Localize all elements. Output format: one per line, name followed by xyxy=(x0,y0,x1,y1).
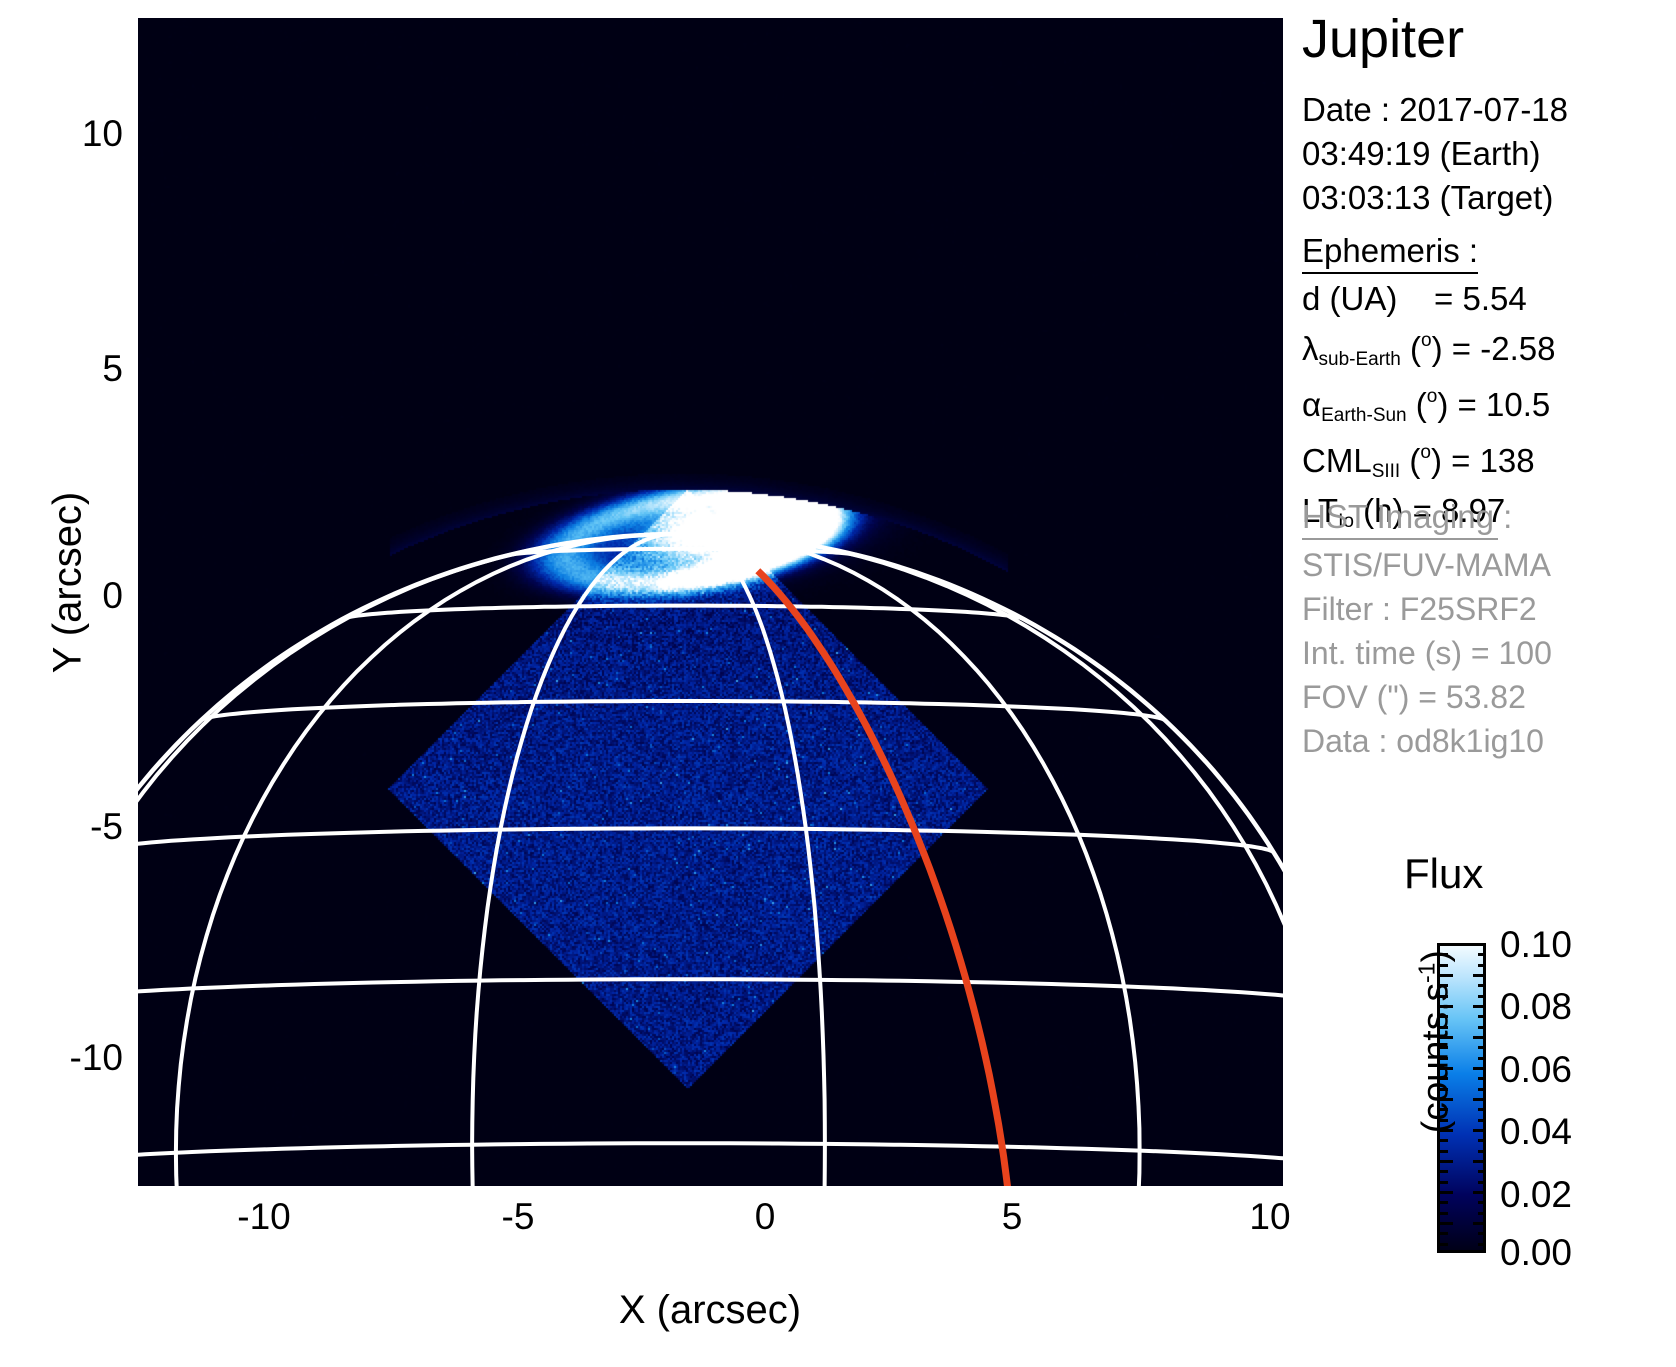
cb-units-exponent: -1 xyxy=(1413,963,1439,983)
colorbar-minor-tick xyxy=(1478,995,1486,998)
colorbar-minor-tick xyxy=(1440,1088,1448,1091)
cb-tick-label-008: 0.08 xyxy=(1500,986,1572,1028)
colorbar-minor-tick xyxy=(1440,1046,1448,1049)
x-tick-label-minus10: -10 xyxy=(214,1196,314,1238)
colorbar-minor-tick xyxy=(1478,1243,1486,1246)
page-title: Jupiter xyxy=(1302,8,1464,70)
hst-rule xyxy=(1302,538,1498,540)
eph-value-cml: = 138 xyxy=(1451,442,1535,479)
colorbar-minor-tick xyxy=(1440,1181,1448,1184)
grid-line xyxy=(138,540,660,1186)
grid-line xyxy=(138,828,1274,852)
colorbar-units-label: (counts.s-1) xyxy=(1413,882,1456,1202)
eph-sub-cml: SIII xyxy=(1372,461,1401,482)
colorbar-minor-tick xyxy=(1473,1222,1486,1225)
colorbar-minor-tick xyxy=(1473,1129,1486,1132)
colorbar-minor-tick xyxy=(1478,1212,1486,1215)
colorbar-minor-tick xyxy=(1440,1243,1448,1246)
eph-unit-alpha: (o) xyxy=(1416,386,1449,423)
cb-tick-label-006: 0.06 xyxy=(1500,1049,1572,1091)
colorbar-minor-tick xyxy=(1440,1036,1453,1039)
colorbar-minor-tick xyxy=(1440,1077,1448,1080)
eph-symbol-cml: CML xyxy=(1302,442,1372,479)
time-earth-line: 03:49:19 (Earth) xyxy=(1302,132,1568,176)
eph-value-alpha: = 10.5 xyxy=(1458,386,1551,423)
cb-tick-label-002: 0.02 xyxy=(1500,1174,1572,1216)
colorbar-minor-tick xyxy=(1478,1232,1486,1235)
grid-line xyxy=(138,979,1283,1007)
colorbar-minor-tick xyxy=(1440,974,1453,977)
eph-unit-cml: (o) xyxy=(1409,442,1442,479)
eph-symbol-d: d xyxy=(1302,280,1320,317)
colorbar-minor-tick xyxy=(1478,1139,1486,1142)
colorbar-minor-tick xyxy=(1478,1150,1486,1153)
hst-integration-time: Int. time (s) = 100 xyxy=(1302,631,1552,675)
y-tick-label-10: 10 xyxy=(75,113,123,155)
colorbar-minor-tick xyxy=(1478,1046,1486,1049)
colorbar-minor-tick xyxy=(1440,1150,1448,1153)
eph-symbol-lambda: λ xyxy=(1302,330,1319,367)
cb-tick-label-000: 0.00 xyxy=(1500,1232,1572,1274)
planet-grid-lines xyxy=(138,534,1283,1186)
colorbar-minor-tick xyxy=(1440,1026,1448,1029)
colorbar-minor-tick xyxy=(1440,964,1448,967)
time-target-line: 03:03:13 (Target) xyxy=(1302,176,1568,220)
y-tick-label-minus5: -5 xyxy=(60,806,123,848)
grid-line xyxy=(138,534,1283,1186)
colorbar-minor-tick xyxy=(1440,984,1448,987)
grid-line xyxy=(176,535,665,1186)
colorbar-minor-tick xyxy=(1440,1005,1453,1008)
colorbar-minor-tick xyxy=(1473,974,1486,977)
colorbar-minor-tick xyxy=(1440,1139,1448,1142)
grid-line xyxy=(472,534,676,1186)
colorbar-minor-tick xyxy=(1440,1222,1453,1225)
x-tick-label-minus5: -5 xyxy=(472,1196,564,1238)
colorbar-minor-tick xyxy=(1440,1108,1448,1111)
colorbar-minor-tick xyxy=(1440,1119,1448,1122)
eph-value-d: = 5.54 xyxy=(1434,280,1527,317)
hst-heading: HST Imaging : xyxy=(1302,498,1512,536)
colorbar-minor-tick xyxy=(1440,1015,1448,1018)
y-tick-label-minus10: -10 xyxy=(45,1037,123,1079)
date-line: Date : 2017-07-18 xyxy=(1302,88,1568,132)
y-axis-title: Y (arcsec) xyxy=(46,423,91,743)
colorbar-minor-tick xyxy=(1478,1108,1486,1111)
hst-filter: Filter : F25SRF2 xyxy=(1302,587,1552,631)
ephemeris-row-phase-angle: αEarth-Sun (o) = 10.5 xyxy=(1302,377,1555,433)
colorbar-minor-tick xyxy=(1478,1119,1486,1122)
cb-tick-label-004: 0.04 xyxy=(1500,1111,1572,1153)
colorbar-minor-tick xyxy=(1440,995,1448,998)
colorbar-minor-tick xyxy=(1478,1026,1486,1029)
ephemeris-row-cml: CMLSIII (o) = 138 xyxy=(1302,433,1555,489)
colorbar-minor-tick xyxy=(1478,1170,1486,1173)
hst-data-id: Data : od8k1ig10 xyxy=(1302,719,1552,763)
colorbar-minor-tick xyxy=(1478,953,1486,956)
colorbar-minor-tick xyxy=(1440,1129,1453,1132)
x-axis-title: X (arcsec) xyxy=(430,1288,990,1333)
colorbar-minor-tick xyxy=(1478,964,1486,967)
colorbar-minor-tick xyxy=(1440,953,1448,956)
grid-line xyxy=(688,534,825,1186)
colorbar-minor-tick xyxy=(1478,1077,1486,1080)
x-tick-label-5: 5 xyxy=(976,1196,1048,1238)
date-block: Date : 2017-07-18 03:49:19 (Earth) 03:03… xyxy=(1302,88,1568,220)
ephemeris-rule xyxy=(1302,272,1478,274)
eph-value-lambda: = -2.58 xyxy=(1452,330,1556,367)
colorbar-minor-tick xyxy=(1473,1005,1486,1008)
io-footprint-trace xyxy=(745,571,1015,1186)
colorbar-minor-tick xyxy=(1440,1067,1453,1070)
eph-sub-alpha: Earth-Sun xyxy=(1321,405,1407,426)
info-panel: Jupiter Date : 2017-07-18 03:49:19 (Eart… xyxy=(1296,0,1676,1367)
colorbar-minor-tick xyxy=(1473,1036,1486,1039)
grid-line xyxy=(201,701,1166,721)
colorbar-minor-tick xyxy=(1473,1067,1486,1070)
colorbar-minor-tick xyxy=(1478,1057,1486,1060)
hst-fov: FOV (") = 53.82 xyxy=(1302,675,1552,719)
ephemeris-row-distance: d (UA) = 5.54 xyxy=(1302,277,1555,321)
hst-instrument: STIS/FUV-MAMA xyxy=(1302,543,1552,587)
colorbar-minor-tick xyxy=(1478,1088,1486,1091)
colorbar-minor-tick xyxy=(1440,1201,1448,1204)
cb-tick-label-010: 0.10 xyxy=(1500,924,1572,966)
colorbar-minor-tick xyxy=(1440,1232,1448,1235)
colorbar-minor-tick xyxy=(1440,1098,1453,1101)
colorbar-minor-tick xyxy=(1440,1191,1453,1194)
ephemeris-block: Ephemeris : d (UA) = 5.54 λsub-Earth (o)… xyxy=(1302,232,1555,539)
hst-imaging-block: HST Imaging : STIS/FUV-MAMA Filter : F25… xyxy=(1302,498,1552,763)
eph-unit-lambda: (o) xyxy=(1410,330,1443,367)
x-tick-label-0: 0 xyxy=(729,1196,801,1238)
colorbar-minor-tick xyxy=(1440,1170,1448,1173)
grid-overlay xyxy=(138,18,1283,1186)
ephemeris-heading: Ephemeris : xyxy=(1302,232,1478,270)
aurora-image-plot xyxy=(138,18,1283,1186)
colorbar-minor-tick xyxy=(1440,1057,1448,1060)
grid-line xyxy=(138,1143,1283,1172)
ephemeris-row-sub-earth-latitude: λsub-Earth (o) = -2.58 xyxy=(1302,321,1555,377)
colorbar-minor-tick xyxy=(1478,1015,1486,1018)
colorbar-minor-tick xyxy=(1473,1098,1486,1101)
eph-symbol-alpha: α xyxy=(1302,386,1321,423)
colorbar-minor-tick xyxy=(1478,984,1486,987)
cb-units-close: ) xyxy=(1415,950,1456,962)
colorbar-minor-tick xyxy=(1478,1181,1486,1184)
colorbar-minor-tick xyxy=(1478,1201,1486,1204)
colorbar-minor-tick xyxy=(1473,1191,1486,1194)
colorbar-minor-tick xyxy=(1473,1160,1486,1163)
eph-unit-d: (UA) xyxy=(1330,280,1398,317)
y-tick-label-5: 5 xyxy=(75,348,123,390)
colorbar-minor-tick xyxy=(1440,1160,1453,1163)
colorbar-minor-tick xyxy=(1440,1212,1448,1215)
eph-sub-lambda: sub-Earth xyxy=(1319,349,1401,370)
